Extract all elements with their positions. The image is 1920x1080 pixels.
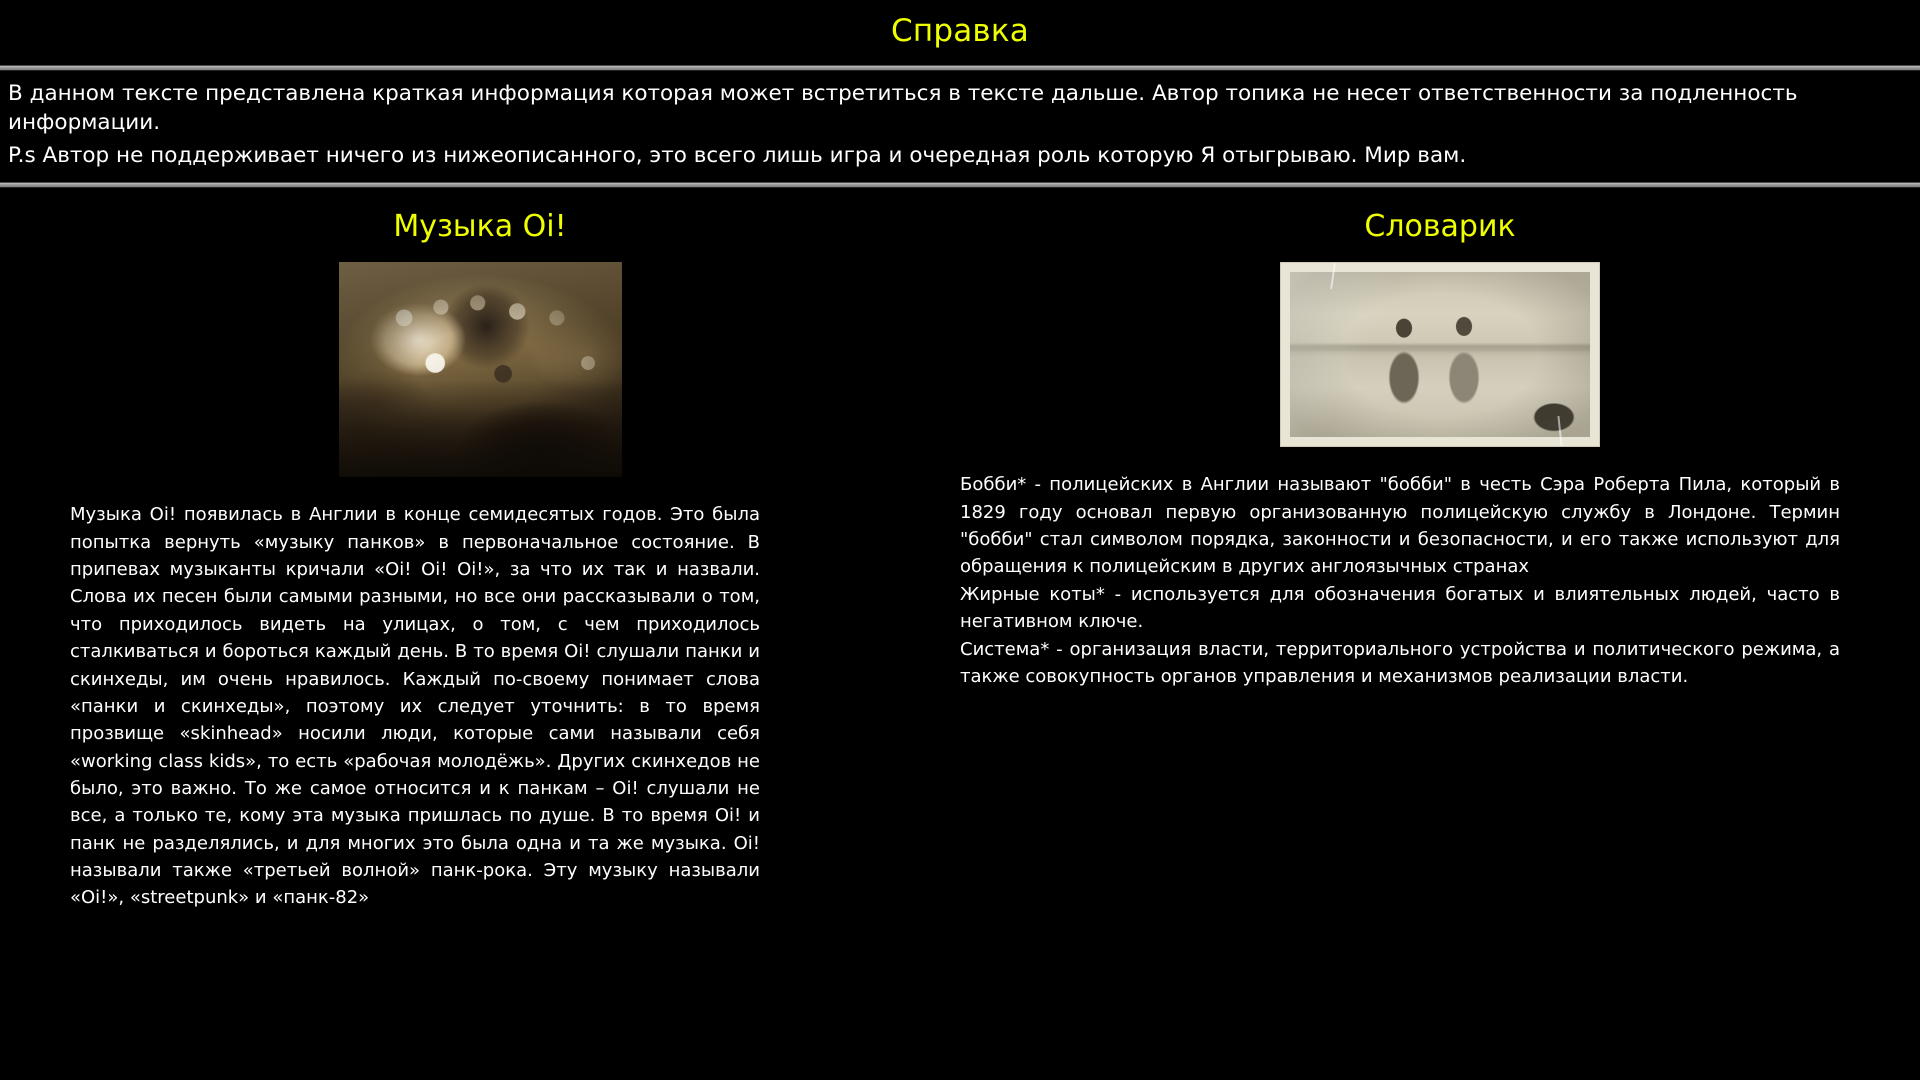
divider-bottom: [0, 182, 1920, 188]
help-page: Справка В данном тексте представлена кра…: [0, 0, 1920, 1080]
intro-block: В данном тексте представлена краткая инф…: [0, 71, 1920, 174]
body-text-music-oi: Музыка Oi! появилась в Англии в конце се…: [70, 501, 760, 911]
sepia-photo-punks-crowd-image: [339, 262, 622, 477]
intro-paragraph: В данном тексте представлена краткая инф…: [8, 80, 1912, 138]
figure-music-oi: [0, 262, 960, 477]
body-text-glossary: Бобби* - полицейских в Англии называют "…: [960, 471, 1840, 690]
paragraph-music-oi: Музыка Oi! появилась в Англии в конце се…: [70, 501, 760, 911]
vintage-photo-two-men-beach-image: [1280, 262, 1600, 447]
section-glossary: Словарик Бобби* - полицейских в Англии н…: [960, 198, 1920, 911]
content-columns: Музыка Oi! Музыка Oi! появилась в Англии…: [0, 198, 1920, 911]
section-music-oi: Музыка Oi! Музыка Oi! появилась в Англии…: [0, 198, 960, 911]
section-heading-glossary: Словарик: [960, 212, 1920, 242]
photo-inner-surface: [1290, 272, 1590, 437]
glossary-entry-bobby: Бобби* - полицейских в Англии называют "…: [960, 471, 1840, 580]
glossary-entry-system: Система* - организация власти, территори…: [960, 636, 1840, 691]
section-heading-music-oi: Музыка Oi!: [0, 212, 960, 242]
figure-glossary: [960, 262, 1920, 447]
intro-postscript: P.s Автор не поддерживает ничего из ниже…: [8, 142, 1912, 171]
page-title: Справка: [0, 0, 1920, 47]
glossary-entry-fatcats: Жирные коты* - используется для обозначе…: [960, 581, 1840, 636]
